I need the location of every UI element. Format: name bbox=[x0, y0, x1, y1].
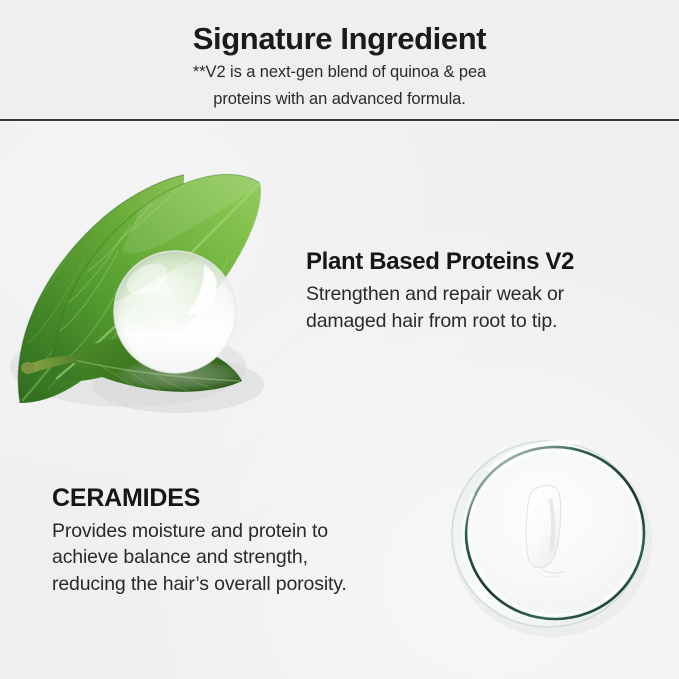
ingredient-description-line-1: Provides moisture and protein to bbox=[52, 514, 432, 545]
header-subtitle-line-1: **V2 is a next-gen blend of quinoa & pea bbox=[0, 57, 679, 84]
content-section: Plant Based Proteins V2 Strengthen and r… bbox=[0, 121, 679, 679]
header-section: Signature Ingredient **V2 is a next-gen … bbox=[0, 0, 679, 120]
petri-dish-with-cream-photo bbox=[430, 421, 679, 651]
ingredient-title: Plant Based Proteins V2 bbox=[306, 248, 671, 276]
ingredient-title: CERAMIDES bbox=[52, 484, 432, 514]
header-subtitle-line-2: proteins with an advanced formula. bbox=[0, 84, 679, 111]
page-title: Signature Ingredient bbox=[0, 0, 679, 57]
ingredient-description-line-2: achieve balance and strength, bbox=[52, 544, 432, 571]
infographic-page: Signature Ingredient **V2 is a next-gen … bbox=[0, 0, 679, 679]
ingredient-description-line-2: damaged hair from root to tip. bbox=[306, 308, 671, 335]
ingredient-description-line-1: Strengthen and repair weak or bbox=[306, 276, 671, 308]
ingredient-block-plant-based-proteins: Plant Based Proteins V2 Strengthen and r… bbox=[306, 248, 671, 334]
ingredient-description-line-3: reducing the hair’s overall porosity. bbox=[52, 571, 432, 598]
leaf-with-water-droplet-photo bbox=[8, 153, 298, 418]
ingredient-block-ceramides: CERAMIDES Provides moisture and protein … bbox=[52, 484, 432, 598]
